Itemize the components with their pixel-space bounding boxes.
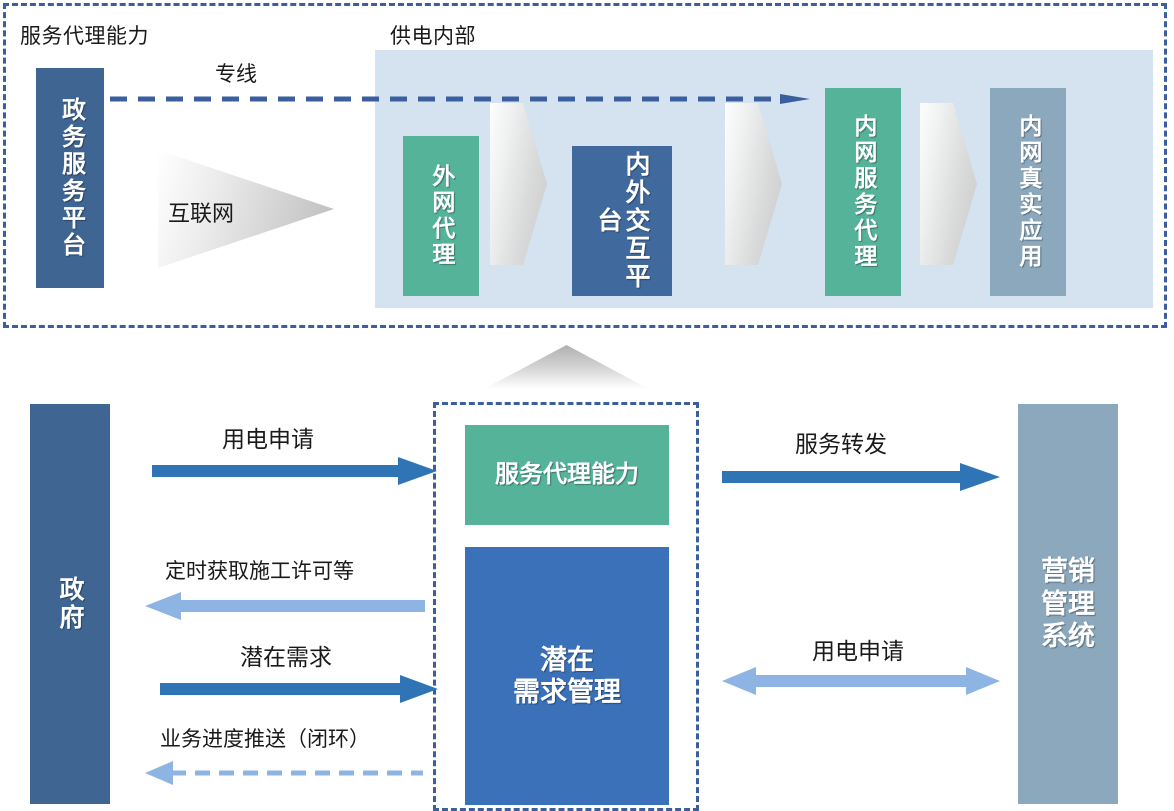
flow-label-business-progress-push: 业务进度推送（闭环） [160,723,370,753]
box-marketing-management-system-label: 营销 管理 系统 [1041,555,1095,652]
flow-arrow-service-forward [722,460,1000,494]
box-intranet-service-proxy: 内网服务代理 [825,88,901,296]
box-internal-external-exchange-platform: 内外交互平台 [572,146,672,296]
box-intranet-real-application: 内网真实应用 [990,88,1066,296]
box-external-network-proxy: 外网代理 [403,136,479,296]
box-gov-service-platform-label: 政务服务平台 [57,97,84,259]
flow-arrow-potential-demand [160,673,438,705]
box-potential-demand-management: 潜在 需求管理 [465,547,669,805]
internet-label: 互联网 [168,196,234,228]
box-gov-service-platform: 政务服务平台 [36,68,104,288]
flow-label-get-construction-permit: 定时获取施工许可等 [165,555,354,585]
flow-label-apply-power-left: 用电申请 [222,420,314,454]
box-marketing-management-system: 营销 管理 系统 [1018,404,1118,804]
box-service-agent-capability: 服务代理能力 [465,425,669,525]
flow-arrow-apply-power-left [152,455,437,487]
section-label-service-agent-capability: 服务代理能力 [20,20,149,50]
section-link-triangle-icon [484,345,649,389]
box-external-network-proxy-label: 外网代理 [428,164,454,268]
section-label-power-supply-internal: 供电内部 [390,20,476,50]
box-intranet-service-proxy-label: 内网服务代理 [850,114,876,270]
flow-arrow-get-construction-permit [145,590,425,622]
dedicated-line-label: 专线 [215,58,257,88]
flow-label-potential-demand: 潜在需求 [240,638,332,672]
dedicated-line-dashed-arrow [110,94,810,104]
diagram-canvas: 服务代理能力 供电内部 互联网 专线 政务服务平台 外网代理 内外交互平台 内网… [0,0,1174,811]
box-government: 政府 [30,404,110,804]
box-intranet-real-application-label: 内网真实应用 [1015,114,1041,270]
flow-arrow-business-progress-push [145,758,423,788]
box-potential-demand-management-label: 潜在 需求管理 [513,644,621,709]
flow-label-service-forward: 服务转发 [795,425,887,459]
box-service-agent-capability-label: 服务代理能力 [495,461,639,490]
flow-arrow-apply-power-right-bidirectional [722,663,1000,699]
flow-label-apply-power-right: 用电申请 [812,632,904,666]
box-internal-external-exchange-platform-label: 内外交互平台 [594,146,650,296]
box-government-label: 政府 [55,576,85,632]
